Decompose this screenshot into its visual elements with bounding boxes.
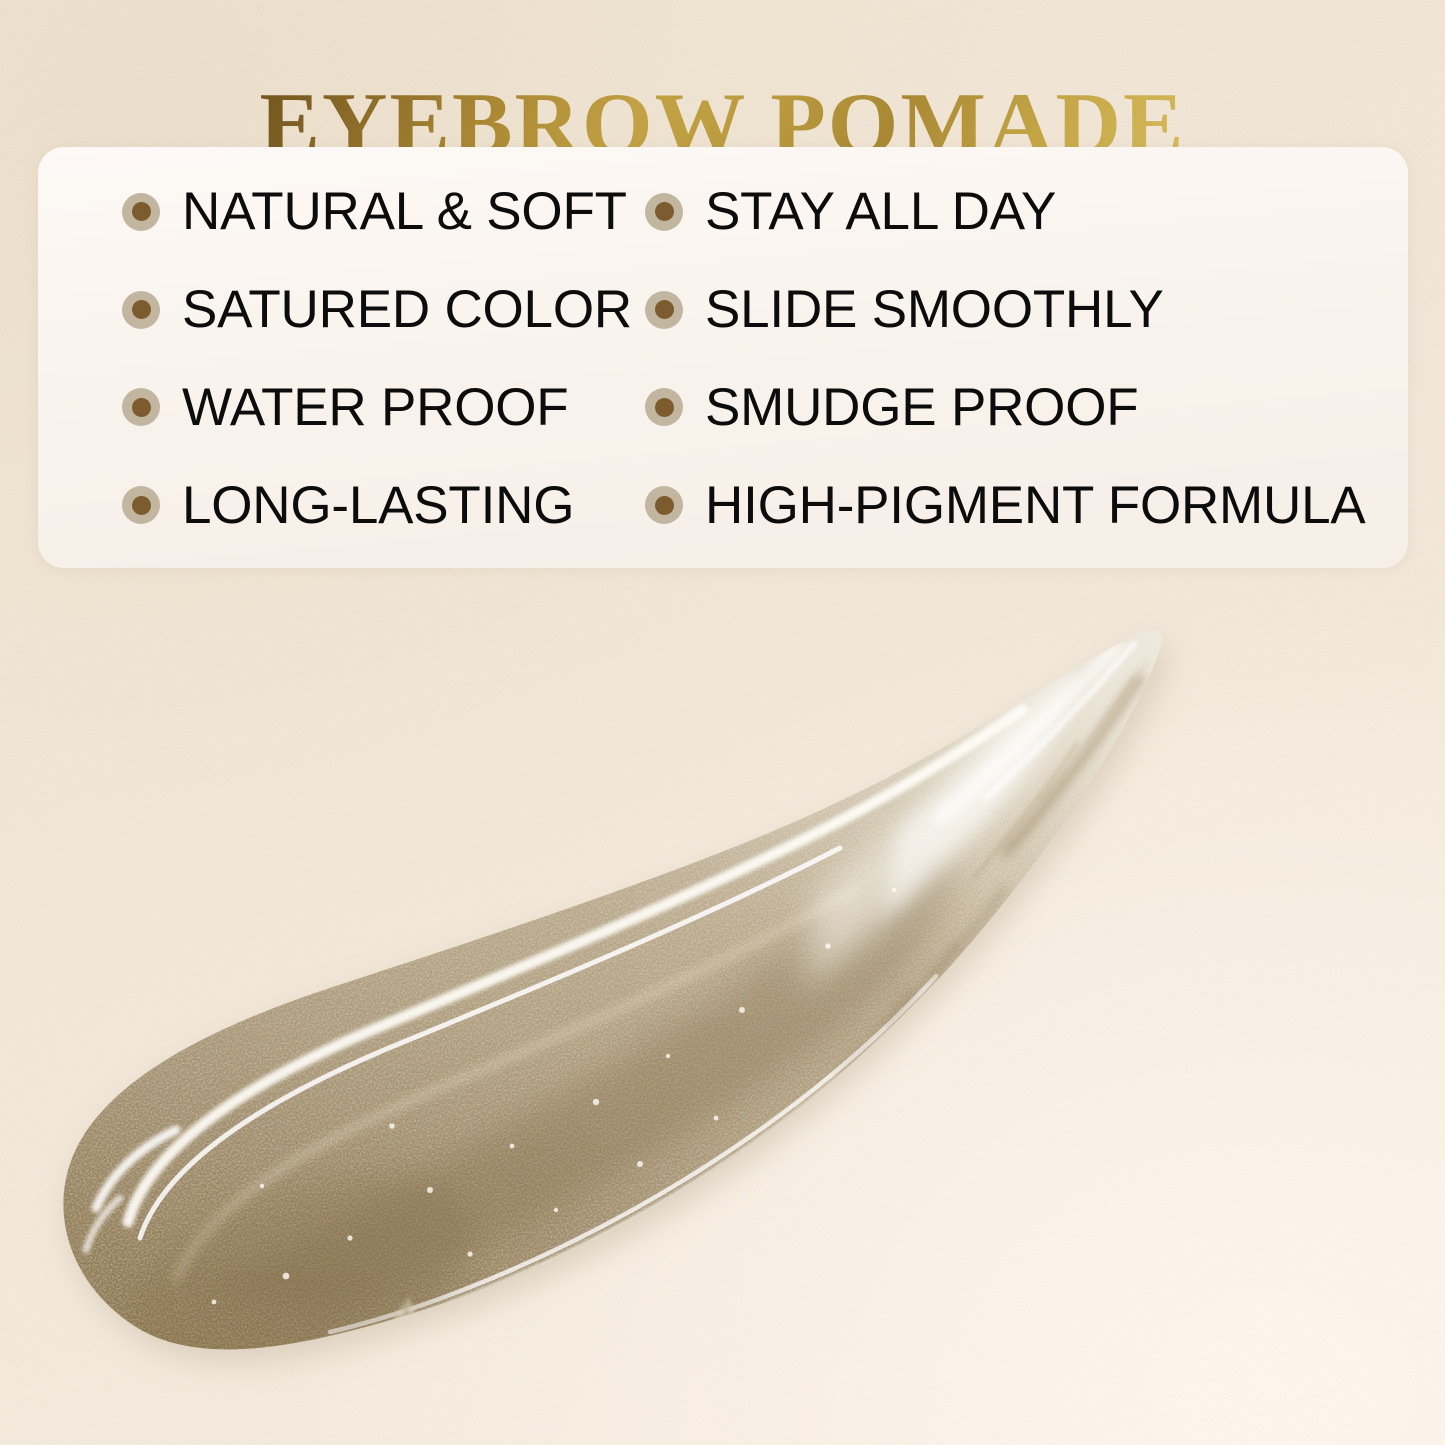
product-swatch-area: [0, 590, 1445, 1445]
eyebrow-pomade-smear-swatch: [0, 590, 1445, 1445]
product-infographic: EYEBROW POMADE NATURAL & SOFT STAY ALL D…: [0, 0, 1445, 1445]
feature-label: NATURAL & SOFT: [182, 185, 627, 238]
features-card: NATURAL & SOFT STAY ALL DAY SATURED COLO…: [38, 147, 1408, 568]
feature-item-long-lasting: LONG-LASTING: [38, 479, 615, 532]
filled-circle-bullet-icon: [645, 291, 683, 329]
filled-circle-bullet-icon: [645, 193, 683, 231]
feature-label: SATURED COLOR: [182, 283, 632, 336]
filled-circle-bullet-icon: [645, 388, 683, 426]
filled-circle-bullet-icon: [645, 486, 683, 524]
filled-circle-bullet-icon: [122, 291, 160, 329]
feature-label: SMUDGE PROOF: [705, 381, 1138, 434]
swatch-detail-layer: [0, 590, 1445, 1445]
feature-item-stay-all-day: STAY ALL DAY: [615, 185, 1408, 238]
filled-circle-bullet-icon: [122, 486, 160, 524]
feature-label: HIGH-PIGMENT FORMULA: [705, 479, 1366, 532]
feature-item-natural-soft: NATURAL & SOFT: [38, 185, 615, 238]
feature-label: STAY ALL DAY: [705, 185, 1056, 238]
feature-item-slide-smoothly: SLIDE SMOOTHLY: [615, 283, 1408, 336]
feature-label: LONG-LASTING: [182, 479, 574, 532]
feature-item-smudge-proof: SMUDGE PROOF: [615, 381, 1408, 434]
feature-item-water-proof: WATER PROOF: [38, 381, 615, 434]
feature-item-high-pigment-formula: HIGH-PIGMENT FORMULA: [615, 479, 1408, 532]
filled-circle-bullet-icon: [122, 388, 160, 426]
feature-label: SLIDE SMOOTHLY: [705, 283, 1164, 336]
feature-label: WATER PROOF: [182, 381, 568, 434]
filled-circle-bullet-icon: [122, 193, 160, 231]
feature-item-satured-color: SATURED COLOR: [38, 283, 615, 336]
